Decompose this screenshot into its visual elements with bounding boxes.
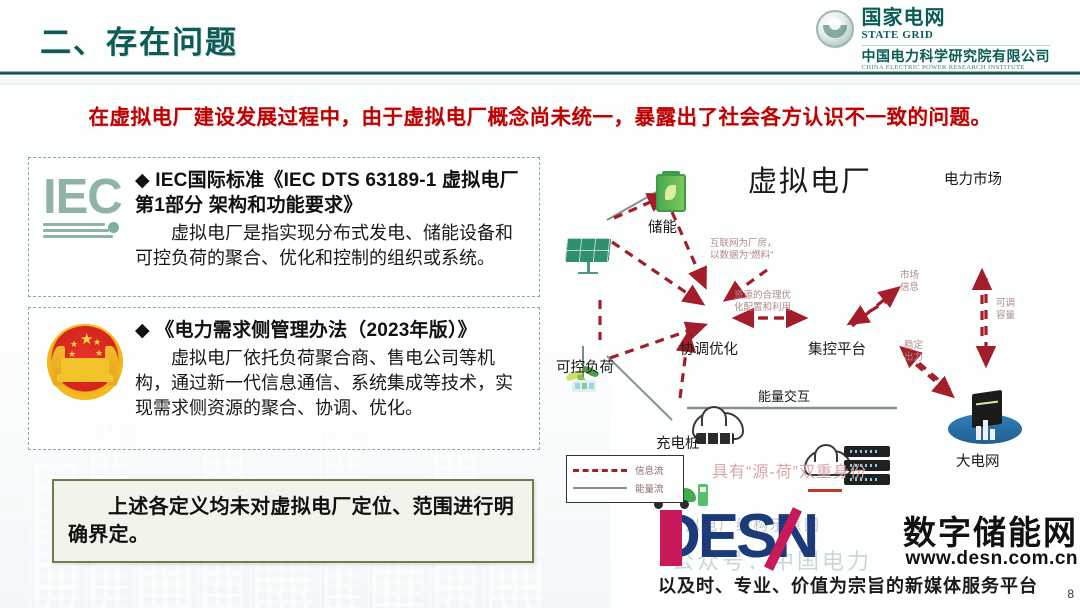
conclusion-box: 上述各定义均未对虚拟电厂定位、范围进行明确界定。 [52,479,534,563]
definition-card-iec: IEC ◆ IEC国际标准《IEC DTS 63189-1 虚拟电厂 第1部分 … [28,157,540,297]
conclusion-text: 上述各定义均未对虚拟电厂定位、范围进行明确界定。 [68,493,518,550]
node-label-coord: 协调优化 [680,338,738,359]
state-grid-logo: 国家电网 STATE GRID 中国电力科学研究院有限公司 CHINA ELEC… [816,8,1051,72]
logo-company-cn: 国家电网 [862,8,1051,28]
header-divider [0,71,1080,75]
legend-swatch-solid [573,487,627,489]
battery-icon [656,174,686,212]
logo-institute-cn: 中国电力科学研究院有限公司 [862,49,1051,63]
annotation-dual-identity: 具有“源-荷”双重身份 [712,458,867,482]
logo-divider [862,45,1051,46]
card-title-iec: ◆ IEC国际标准《IEC DTS 63189-1 虚拟电厂 第1部分 架构和功… [135,168,525,218]
node-label-market: 电力市场 [944,168,1002,189]
china-national-emblem-icon: ★★★ ★★ [39,318,131,418]
annotation-market-info: 市场 信息 [900,270,919,294]
state-grid-emblem-icon [816,10,854,48]
page-title: 二、存在问题 [40,17,238,62]
card-text-gov: 虚拟电厂依托负荷聚合商、售电公司等机构，通过新一代信息通信、系统集成等技术，实现… [135,346,525,420]
logo-institute-en: CHINA ELECTRIC POWER RESEARCH INSTITUTE [862,65,1051,72]
legend-label-info-flow: 信息流 [635,463,664,477]
watermark-slogan: 以及时、专业、价值为宗旨的新媒体服务平台 [658,572,1038,598]
lead-statement: 在虚拟电厂建设发展过程中，由于虚拟电厂概念尚未统一，暴露出了社会各方认识不一致的… [0,100,1080,130]
card-title-gov: ◆ 《电力需求侧管理办法（2023年版）》 [135,318,525,343]
node-label-grid: 大电网 [956,450,1000,471]
node-label-load: 可控负荷 [556,356,614,377]
legend-item-energy-flow: 能量流 [573,479,677,497]
slide: 二、存在问题 国家电网 STATE GRID 中国电力科学研究院有限公司 CHI… [0,0,1080,608]
annotation-stable-output: 稳定 出力 [904,340,923,364]
definition-card-gov: ★★★ ★★ ◆ 《电力需求侧管理办法（2023年版）》 虚拟电厂依托负荷聚合商… [28,307,540,450]
watermark-url: www.desn.com.cn [905,548,1078,570]
legend-label-energy-flow: 能量流 [635,481,664,495]
vpp-diagram: 虚拟电厂 [552,150,1072,510]
desn-watermark: 虚拟电厂结构示意图 公众号：中国电力 DESN 数字储能网 www.desn.c… [648,500,1080,604]
header-divider-shadow [0,76,1080,85]
desn-brand-accent-bar [660,510,682,566]
page-number: 8 [1067,587,1074,601]
node-label-platform: 集控平台 [808,338,866,359]
diagram-legend: 信息流 能量流 [566,455,684,503]
solar-panel-icon [566,238,610,272]
node-label-storage: 储能 [648,216,677,237]
annotation-resource-opt: 资源的合理优 化配置和利用 [734,290,791,314]
logo-company-en: STATE GRID [862,30,1051,41]
legend-swatch-dashed [573,469,627,472]
node-label-charger: 充电桩 [656,432,700,453]
annotation-adjustable-capacity: 可调 容量 [996,298,1015,322]
annotation-energy-exchange: 能量交互 [758,386,810,405]
legend-item-info-flow: 信息流 [573,461,677,479]
watermark-brand-cn: 数字储能网 [903,506,1078,554]
iec-logo-icon: IEC [39,168,131,268]
power-market-icon [948,392,1022,448]
card-text-iec: 虚拟电厂是指实现分布式发电、储能设备和可控负荷的聚合、优化和控制的组织或系统。 [135,221,525,271]
annotation-internet-fuel: 互联网为厂房， 以数据为“燃料” [710,238,777,262]
